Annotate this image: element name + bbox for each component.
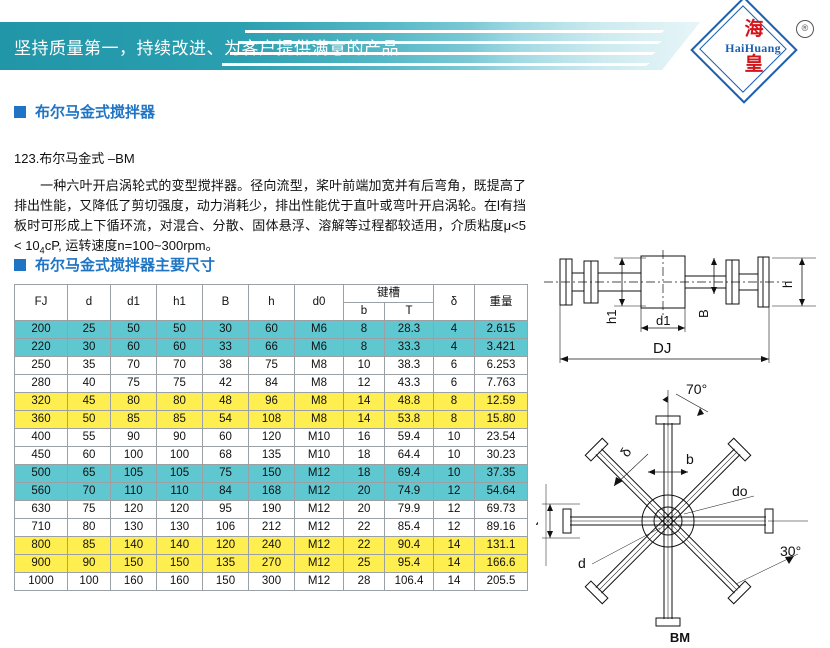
table-cell-b: 28 [344,573,385,591]
table-cell-h1: 160 [157,573,203,591]
table-cell-δ: 6 [434,375,475,393]
table-cell-d0: M12 [295,465,344,483]
table-cell-B: 30 [203,321,249,339]
table-cell-重量: 15.80 [475,411,528,429]
table-cell-h: 66 [249,339,295,357]
table-cell-d: 35 [68,357,111,375]
dimensions-table: FJ d d1 h1 B h d0 键槽 δ 重量 b T 2002550503… [14,284,528,591]
table-row: 2002550503060M6828.342.615 [15,321,528,339]
table-cell-FJ: 450 [15,447,68,465]
col-header-weight: 重量 [475,285,528,321]
table-cell-h: 212 [249,519,295,537]
table-cell-FJ: 630 [15,501,68,519]
table-row: 5607011011084168M122074.91254.64 [15,483,528,501]
label-b: b [686,451,694,467]
table-cell-B: 68 [203,447,249,465]
label-h1: h1 [604,310,619,324]
table-cell-FJ: 250 [15,357,68,375]
table-row: 1000100160160150300M1228106.414205.5 [15,573,528,591]
col-header-delta: δ [434,285,475,321]
description-text-part2: cP, 运转速度n=100~300rpm。 [45,238,219,253]
table-cell-h: 300 [249,573,295,591]
section-title-text: 布尔马金式搅拌器主要尺寸 [35,254,215,275]
table-cell-d0: M12 [295,573,344,591]
table-cell-T: 85.4 [385,519,434,537]
table-cell-h1: 105 [157,465,203,483]
table-row: 2804075754284M81243.367.763 [15,375,528,393]
table-cell-d0: M12 [295,519,344,537]
table-cell-h: 120 [249,429,295,447]
table-header-row-1: FJ d d1 h1 B h d0 键槽 δ 重量 [15,285,528,303]
table-cell-d1: 90 [111,429,157,447]
table-cell-FJ: 560 [15,483,68,501]
table-cell-重量: 30.23 [475,447,528,465]
table-cell-h1: 140 [157,537,203,555]
table-cell-FJ: 500 [15,465,68,483]
table-cell-d1: 120 [111,501,157,519]
table-cell-δ: 12 [434,483,475,501]
table-cell-δ: 8 [434,411,475,429]
section-heading-product: 布尔马金式搅拌器 [14,101,155,122]
table-cell-δ: 12 [434,501,475,519]
table-cell-B: 95 [203,501,249,519]
table-row: 4506010010068135M101864.41030.23 [15,447,528,465]
table-row: 5006510510575150M121869.41037.35 [15,465,528,483]
logo-char-bottom: 皇 [732,53,776,75]
table-cell-T: 79.9 [385,501,434,519]
model-designation: 123.布尔马金式 –BM [14,148,135,167]
table-cell-FJ: 800 [15,537,68,555]
table-cell-T: 106.4 [385,573,434,591]
table-cell-d: 25 [68,321,111,339]
table-row: 3204580804896M81448.8812.59 [15,393,528,411]
table-cell-B: 38 [203,357,249,375]
table-cell-d1: 130 [111,519,157,537]
table-cell-B: 42 [203,375,249,393]
table-cell-重量: 6.253 [475,357,528,375]
table-cell-δ: 4 [434,321,475,339]
table-cell-d1: 110 [111,483,157,501]
table-cell-d0: M8 [295,357,344,375]
table-cell-d0: M12 [295,537,344,555]
table-cell-h: 84 [249,375,295,393]
table-cell-B: 33 [203,339,249,357]
table-cell-FJ: 900 [15,555,68,573]
table-cell-T: 90.4 [385,537,434,555]
label-t: t [536,522,541,526]
table-cell-b: 18 [344,447,385,465]
table-cell-重量: 37.35 [475,465,528,483]
table-cell-b: 22 [344,519,385,537]
col-header-T: T [385,303,434,321]
section-title-text: 布尔马金式搅拌器 [35,101,155,122]
table-row: 90090150150135270M122595.414166.6 [15,555,528,573]
col-header-fj: FJ [15,285,68,321]
table-cell-d: 65 [68,465,111,483]
label-d: d [578,555,586,571]
table-cell-h: 240 [249,537,295,555]
col-header-d1: d1 [111,285,157,321]
table-cell-FJ: 200 [15,321,68,339]
table-cell-h1: 90 [157,429,203,447]
table-cell-d0: M6 [295,321,344,339]
table-cell-d0: M8 [295,393,344,411]
table-cell-T: 69.4 [385,465,434,483]
table-cell-d1: 85 [111,411,157,429]
table-cell-δ: 6 [434,357,475,375]
table-cell-d1: 80 [111,393,157,411]
table-cell-b: 10 [344,357,385,375]
bullet-square-icon [14,259,26,271]
table-cell-B: 135 [203,555,249,573]
table-cell-δ: 12 [434,519,475,537]
table-cell-重量: 12.59 [475,393,528,411]
table-cell-b: 25 [344,555,385,573]
table-cell-d1: 105 [111,465,157,483]
table-cell-δ: 10 [434,465,475,483]
col-header-b: b [344,303,385,321]
table-cell-h1: 110 [157,483,203,501]
table-cell-h1: 70 [157,357,203,375]
banner-slogan: 坚持质量第一，持续改进、为客户提供满意的产品 [14,22,434,70]
table-cell-b: 16 [344,429,385,447]
table-cell-T: 95.4 [385,555,434,573]
table-cell-b: 8 [344,321,385,339]
label-do: do [732,483,748,499]
label-30-deg: 30° [780,543,801,559]
table-cell-d0: M8 [295,411,344,429]
company-logo: 海 HaiHuang 皇 ® [692,6,826,90]
dimensions-table-wrapper: FJ d d1 h1 B h d0 键槽 δ 重量 b T 2002550503… [14,284,528,591]
table-cell-T: 74.9 [385,483,434,501]
table-cell-重量: 2.615 [475,321,528,339]
table-cell-T: 53.8 [385,411,434,429]
table-cell-h: 270 [249,555,295,573]
label-h: h [780,281,795,288]
table-cell-重量: 3.421 [475,339,528,357]
table-cell-h: 150 [249,465,295,483]
table-row: 2203060603366M6833.343.421 [15,339,528,357]
table-cell-b: 14 [344,411,385,429]
table-row: 80085140140120240M122290.414131.1 [15,537,528,555]
table-cell-d1: 75 [111,375,157,393]
table-cell-d: 80 [68,519,111,537]
table-cell-d1: 100 [111,447,157,465]
col-header-h1: h1 [157,285,203,321]
table-cell-T: 38.3 [385,357,434,375]
table-cell-d: 60 [68,447,111,465]
table-row: 36050858554108M81453.8815.80 [15,411,528,429]
table-cell-FJ: 220 [15,339,68,357]
table-cell-δ: 14 [434,573,475,591]
table-cell-FJ: 1000 [15,573,68,591]
label-d1: d1 [656,313,670,328]
table-cell-h: 60 [249,321,295,339]
table-cell-T: 64.4 [385,447,434,465]
col-header-B: B [203,285,249,321]
table-cell-d1: 60 [111,339,157,357]
table-cell-B: 84 [203,483,249,501]
table-cell-T: 33.3 [385,339,434,357]
table-cell-d: 85 [68,537,111,555]
table-cell-d: 75 [68,501,111,519]
table-cell-d: 40 [68,375,111,393]
table-cell-b: 20 [344,501,385,519]
col-header-keyway-group: 键槽 [344,285,434,303]
table-cell-δ: 10 [434,429,475,447]
table-cell-d: 45 [68,393,111,411]
table-cell-FJ: 710 [15,519,68,537]
table-cell-b: 20 [344,483,385,501]
table-cell-B: 60 [203,429,249,447]
page-header: 坚持质量第一，持续改进、为客户提供满意的产品 海 HaiHuang 皇 ® [0,0,830,92]
table-row: 40055909060120M101659.41023.54 [15,429,528,447]
table-cell-d1: 150 [111,555,157,573]
table-cell-T: 28.3 [385,321,434,339]
table-cell-重量: 166.6 [475,555,528,573]
table-cell-h1: 80 [157,393,203,411]
label-70-deg: 70° [686,381,707,397]
registered-trademark-icon: ® [796,20,814,38]
table-cell-δ: 4 [434,339,475,357]
table-cell-B: 106 [203,519,249,537]
table-cell-T: 43.3 [385,375,434,393]
table-cell-b: 18 [344,465,385,483]
table-cell-d0: M6 [295,339,344,357]
label-delta: δ [617,445,635,460]
table-cell-B: 48 [203,393,249,411]
table-cell-d: 30 [68,339,111,357]
table-cell-δ: 14 [434,555,475,573]
table-cell-B: 75 [203,465,249,483]
table-cell-d: 70 [68,483,111,501]
table-cell-FJ: 280 [15,375,68,393]
table-row: 2503570703875M81038.366.253 [15,357,528,375]
table-cell-B: 54 [203,411,249,429]
table-cell-重量: 89.16 [475,519,528,537]
table-cell-h: 75 [249,357,295,375]
table-cell-重量: 205.5 [475,573,528,591]
table-cell-重量: 69.73 [475,501,528,519]
table-cell-δ: 10 [434,447,475,465]
table-cell-d1: 50 [111,321,157,339]
table-cell-重量: 54.64 [475,483,528,501]
table-cell-d0: M10 [295,429,344,447]
table-cell-h: 108 [249,411,295,429]
section-heading-dimensions: 布尔马金式搅拌器主要尺寸 [14,254,215,275]
table-cell-h: 168 [249,483,295,501]
table-row: 71080130130106212M122285.41289.16 [15,519,528,537]
col-header-d: d [68,285,111,321]
label-B: B [696,309,711,318]
description-paragraph: 一种六叶开启涡轮式的变型搅拌器。径向流型，桨叶前端加宽并有后弯角，既提高了排出性… [14,176,526,261]
table-cell-h1: 75 [157,375,203,393]
table-cell-b: 14 [344,393,385,411]
table-cell-d: 55 [68,429,111,447]
table-cell-B: 120 [203,537,249,555]
table-cell-b: 8 [344,339,385,357]
table-cell-d0: M12 [295,501,344,519]
table-head: FJ d d1 h1 B h d0 键槽 δ 重量 b T [15,285,528,321]
table-body: 2002550503060M6828.342.6152203060603366M… [15,321,528,591]
table-cell-δ: 8 [434,393,475,411]
table-cell-T: 59.4 [385,429,434,447]
col-header-d0: d0 [295,285,344,321]
table-row: 6307512012095190M122079.91269.73 [15,501,528,519]
col-header-h: h [249,285,295,321]
table-cell-h1: 130 [157,519,203,537]
table-cell-d: 90 [68,555,111,573]
table-cell-δ: 14 [434,537,475,555]
table-cell-h1: 120 [157,501,203,519]
logo-char-top: 海 [732,18,776,40]
side-view-drawing: h1 d1 B h DJ [536,246,828,374]
table-cell-h1: 50 [157,321,203,339]
table-cell-FJ: 360 [15,411,68,429]
table-cell-d0: M12 [295,555,344,573]
table-cell-b: 22 [344,537,385,555]
impeller-drawing: 70° δ b do t d 30° [536,376,828,644]
bullet-square-icon [14,106,26,118]
table-cell-h1: 60 [157,339,203,357]
table-cell-h1: 85 [157,411,203,429]
impeller-caption: BM [640,630,720,645]
table-cell-d1: 70 [111,357,157,375]
table-cell-h: 96 [249,393,295,411]
table-cell-T: 48.8 [385,393,434,411]
table-cell-d1: 160 [111,573,157,591]
table-cell-h: 135 [249,447,295,465]
table-cell-d: 50 [68,411,111,429]
table-cell-h1: 100 [157,447,203,465]
table-cell-FJ: 400 [15,429,68,447]
table-cell-B: 150 [203,573,249,591]
table-cell-d1: 140 [111,537,157,555]
table-cell-d0: M8 [295,375,344,393]
table-cell-d0: M10 [295,447,344,465]
table-cell-重量: 131.1 [475,537,528,555]
table-cell-重量: 23.54 [475,429,528,447]
table-cell-d0: M12 [295,483,344,501]
table-cell-b: 12 [344,375,385,393]
label-DJ: DJ [653,340,671,357]
table-cell-h: 190 [249,501,295,519]
table-cell-h1: 150 [157,555,203,573]
table-cell-FJ: 320 [15,393,68,411]
table-cell-d: 100 [68,573,111,591]
table-cell-重量: 7.763 [475,375,528,393]
